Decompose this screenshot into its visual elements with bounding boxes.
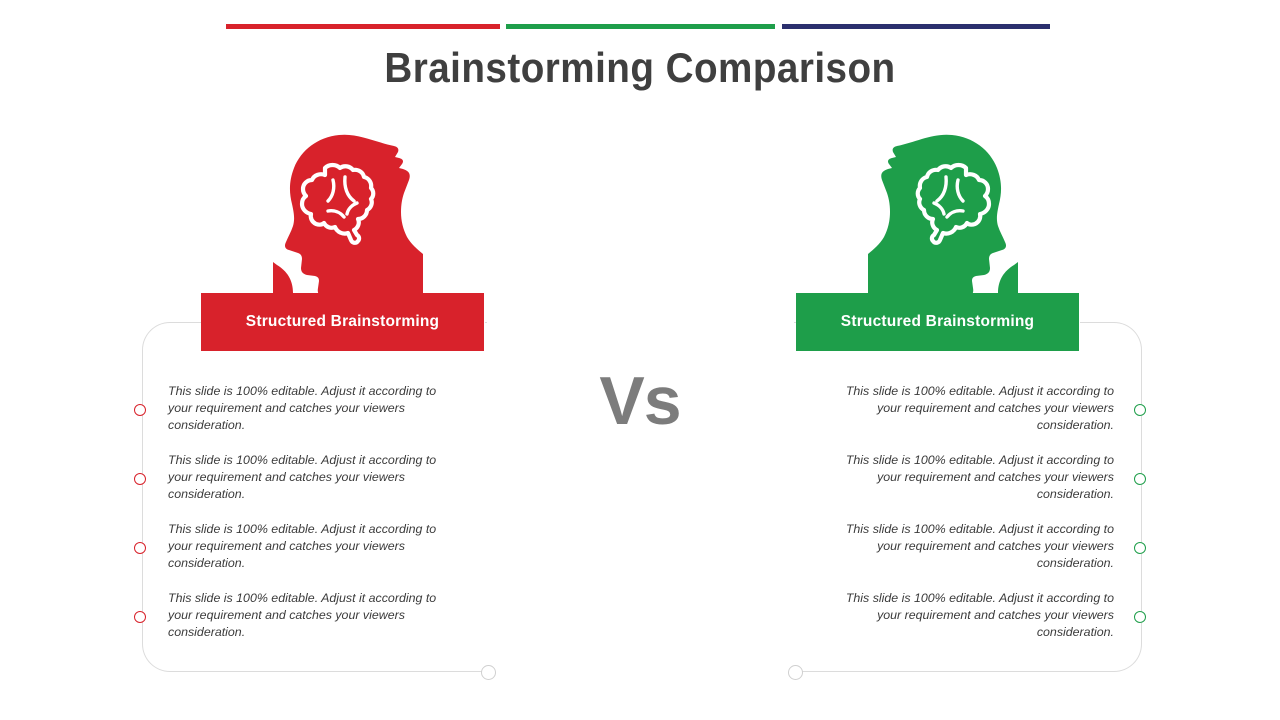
head-with-brain-icon-left xyxy=(273,133,423,298)
list-item: This slide is 100% editable. Adjust it a… xyxy=(168,590,448,659)
head-with-brain-icon-right xyxy=(868,133,1018,298)
list-item: This slide is 100% editable. Adjust it a… xyxy=(834,383,1114,452)
right-bullet-column xyxy=(1134,398,1148,630)
list-item: This slide is 100% editable. Adjust it a… xyxy=(834,521,1114,590)
left-banner[interactable]: Structured Brainstorming xyxy=(201,293,484,351)
left-rail-end-dot xyxy=(481,665,496,680)
right-text-column: This slide is 100% editable. Adjust it a… xyxy=(834,383,1114,659)
list-item: This slide is 100% editable. Adjust it a… xyxy=(834,590,1114,659)
right-banner[interactable]: Structured Brainstorming xyxy=(796,293,1079,351)
left-bullet-dot-3 xyxy=(134,542,146,554)
right-bullet-dot-4 xyxy=(1134,611,1146,623)
accent-bar-group xyxy=(0,24,1280,32)
right-bullet-dot-1 xyxy=(1134,404,1146,416)
list-item: This slide is 100% editable. Adjust it a… xyxy=(168,452,448,521)
right-bullet-dot-2 xyxy=(1134,473,1146,485)
list-item: This slide is 100% editable. Adjust it a… xyxy=(834,452,1114,521)
right-rail-end-dot xyxy=(788,665,803,680)
right-bullet-dot-3 xyxy=(1134,542,1146,554)
accent-bar-green xyxy=(506,24,775,29)
page-title: Brainstorming Comparison xyxy=(51,44,1229,92)
list-item: This slide is 100% editable. Adjust it a… xyxy=(168,383,448,452)
left-bullet-dot-4 xyxy=(134,611,146,623)
list-item: This slide is 100% editable. Adjust it a… xyxy=(168,521,448,590)
right-banner-label: Structured Brainstorming xyxy=(841,313,1034,331)
accent-bar-navy xyxy=(782,24,1050,29)
left-bullet-column xyxy=(134,398,148,630)
left-text-column: This slide is 100% editable. Adjust it a… xyxy=(168,383,448,659)
left-banner-label: Structured Brainstorming xyxy=(246,313,439,331)
left-bullet-dot-1 xyxy=(134,404,146,416)
left-bullet-dot-2 xyxy=(134,473,146,485)
accent-bar-red xyxy=(226,24,500,29)
vs-label: Vs xyxy=(560,362,720,440)
